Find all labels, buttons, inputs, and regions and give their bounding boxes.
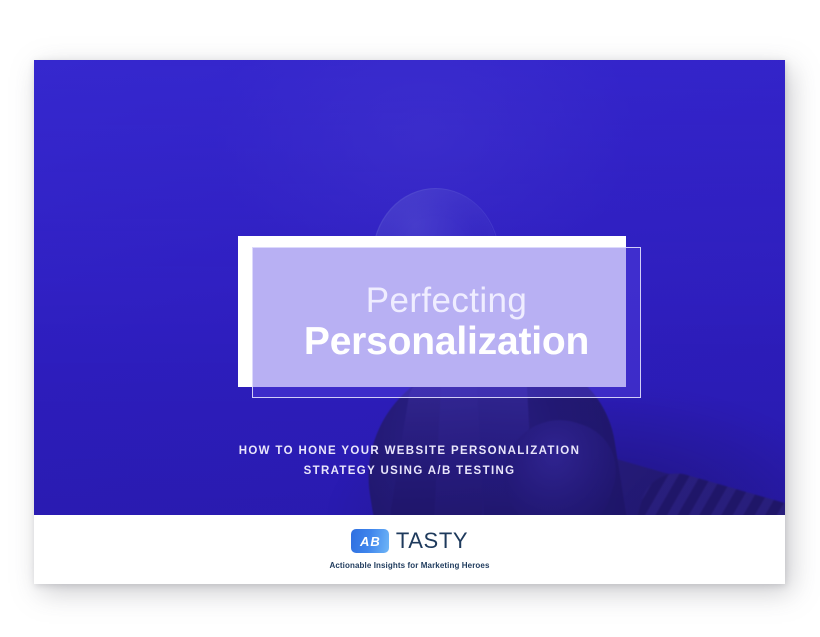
cover-title-line-2: Personalization (304, 322, 589, 362)
title-frame: Perfecting Personalization (252, 247, 641, 398)
logo-wordmark: TASTY (396, 530, 468, 552)
brand-tagline: Actionable Insights for Marketing Heroes (329, 562, 489, 570)
cover-footer-band: A B TASTY Actionable Insights for Market… (34, 515, 785, 584)
cover-subtitle: HOW TO HONE YOUR WEBSITE PERSONALIZATION… (34, 441, 785, 481)
ab-tasty-logo: A B TASTY (351, 529, 468, 553)
cover-title-line-1: Perfecting (366, 283, 528, 319)
ab-badge-icon: A B (351, 529, 389, 553)
screenshot-canvas: Perfecting Personalization HOW TO HONE Y… (0, 0, 820, 637)
cover-subtitle-line-2: STRATEGY USING A/B TESTING (34, 461, 785, 481)
logo-glyph-a: A (360, 535, 369, 548)
ebook-cover-card: Perfecting Personalization HOW TO HONE Y… (34, 60, 785, 584)
logo-glyph-b: B (370, 535, 379, 548)
cover-subtitle-line-1: HOW TO HONE YOUR WEBSITE PERSONALIZATION (34, 441, 785, 461)
